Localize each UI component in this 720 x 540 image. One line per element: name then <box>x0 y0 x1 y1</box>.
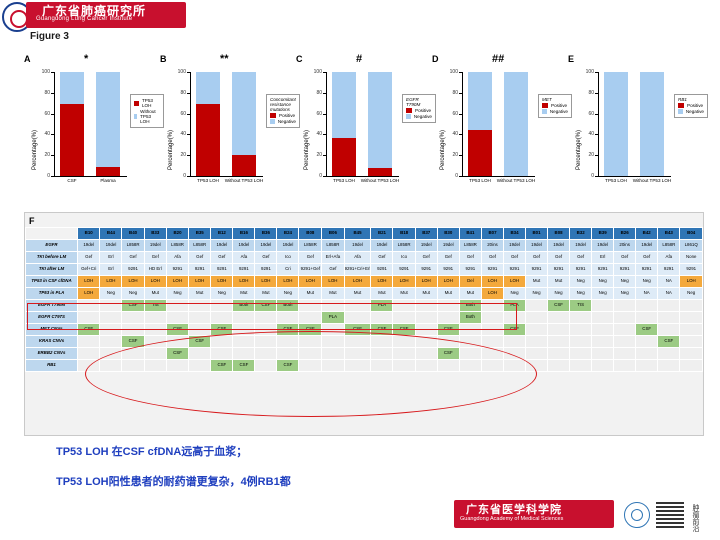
table-cell <box>78 300 100 312</box>
row-header: TKI before LM <box>26 252 78 264</box>
table-cell: Neg <box>100 288 122 300</box>
table-cell <box>658 348 680 360</box>
table-cell: Gef <box>437 252 459 264</box>
table-cell: 19del <box>211 240 233 252</box>
y-tick-label: 80 <box>309 90 322 96</box>
y-tick-mark <box>51 155 54 156</box>
row-header: RB1 <box>26 360 78 372</box>
legend-label: TP53 LOH <box>142 98 160 108</box>
y-tick-mark <box>459 155 462 156</box>
table-cell <box>437 336 459 348</box>
y-tick-label: 60 <box>173 111 186 117</box>
table-cell <box>78 336 100 348</box>
bar-segment <box>604 72 628 176</box>
column-header: B07 <box>481 228 503 240</box>
table-cell <box>592 360 614 372</box>
significance-marker: ** <box>220 53 229 65</box>
table-cell: 9291 <box>437 264 459 276</box>
table-cell: 9291 <box>166 264 188 276</box>
table-cell <box>299 360 322 372</box>
table-cell <box>322 336 344 348</box>
table-cell: 19del <box>415 240 437 252</box>
table-cell <box>393 312 415 324</box>
table-cell <box>592 324 614 336</box>
table-cell: CSF <box>658 336 680 348</box>
table-cell <box>592 300 614 312</box>
table-cell: Mut <box>393 288 415 300</box>
y-tick-mark <box>459 72 462 73</box>
table-cell: 9291 <box>415 264 437 276</box>
table-cell: LOH <box>371 276 393 288</box>
table-cell: 19del <box>592 240 614 252</box>
y-tick-mark <box>51 93 54 94</box>
table-cell <box>144 336 166 348</box>
table-cell: Gef <box>322 264 344 276</box>
bar-segment <box>60 72 84 104</box>
y-tick-label: 60 <box>309 111 322 117</box>
y-tick-label: 100 <box>445 69 458 75</box>
table-cell <box>393 336 415 348</box>
table-cell: Gef <box>526 252 548 264</box>
table-cell <box>570 324 592 336</box>
table-cell <box>100 324 122 336</box>
table-cell: 9291+Cri+Erl <box>344 264 371 276</box>
y-tick-mark <box>187 93 190 94</box>
significance-marker: * <box>84 53 88 65</box>
x-category-label: Without TP53 LOH <box>222 178 266 183</box>
legend-entry: TP53 LOH <box>134 98 160 108</box>
y-tick-mark <box>187 155 190 156</box>
table-cell: 9291 <box>504 264 526 276</box>
table-cell <box>189 360 211 372</box>
table-cell: Erl <box>100 252 122 264</box>
y-tick-mark <box>459 114 462 115</box>
table-cell: Neg <box>592 276 614 288</box>
table-cell: Neg <box>211 288 233 300</box>
table-cell <box>614 360 636 372</box>
table-cell: 9291 <box>122 264 144 276</box>
table-cell: Gef <box>459 252 481 264</box>
bar-segment <box>368 72 392 168</box>
table-cell <box>658 312 680 324</box>
table-cell <box>592 348 614 360</box>
table-row: EGFR19del19delL858R19delL858RL858R19del1… <box>26 240 703 252</box>
table-cell <box>233 348 255 360</box>
table-cell <box>658 324 680 336</box>
bar-segment <box>332 72 356 138</box>
table-cell <box>504 360 526 372</box>
table-cell: Erl <box>100 264 122 276</box>
table-cell <box>415 348 437 360</box>
table-cell: 19del <box>144 240 166 252</box>
table-cell: Neg <box>570 288 592 300</box>
column-header: B45 <box>344 228 371 240</box>
table-cell <box>437 300 459 312</box>
legend-label: Negative <box>278 119 296 124</box>
table-row: TKI after LMGef+CriErl9291HD Erl92919291… <box>26 264 703 276</box>
table-cell: LOH <box>393 276 415 288</box>
table-cell: Gef <box>299 252 322 264</box>
table-cell <box>189 312 211 324</box>
legend-entry: Without TP53 LOH <box>134 109 160 124</box>
footer-org-cn: 广东省医学科学院 <box>466 501 562 517</box>
legend-entry: Positive <box>270 113 296 118</box>
legend-title: RB1 <box>678 97 704 102</box>
table-cell: 9291 <box>614 264 636 276</box>
legend-label: Positive <box>415 108 431 113</box>
chart-panel-e: EPercentage(%)020406080100TP53 LOHWithou… <box>568 54 704 209</box>
table-cell: LOH <box>481 276 503 288</box>
table-cell <box>614 300 636 312</box>
y-tick-label: 80 <box>37 90 50 96</box>
legend-swatch <box>134 101 139 106</box>
table-cell <box>371 348 393 360</box>
table-cell: 9291 <box>371 264 393 276</box>
table-cell <box>233 312 255 324</box>
y-tick-mark <box>323 134 326 135</box>
table-cell <box>299 312 322 324</box>
table-cell <box>636 300 658 312</box>
column-header: B20 <box>166 228 188 240</box>
table-cell <box>255 348 277 360</box>
table-cell <box>481 312 503 324</box>
table-cell: CSF <box>122 336 144 348</box>
table-cell: Gef <box>415 252 437 264</box>
chart-panel-c: C#Percentage(%)020406080100TP53 LOHWitho… <box>296 54 432 209</box>
table-cell: LOH <box>299 276 322 288</box>
table-cell: Cri <box>277 264 299 276</box>
table-cell <box>211 312 233 324</box>
legend-label: Negative <box>686 109 704 114</box>
table-cell: Neg <box>614 288 636 300</box>
table-cell <box>614 336 636 348</box>
table-cell <box>100 312 122 324</box>
table-cell: 9291 <box>481 264 503 276</box>
x-category-label: Without TP53 LOH <box>358 178 402 183</box>
y-tick-label: 20 <box>173 152 186 158</box>
table-cell: Neg <box>166 288 188 300</box>
legend-entry: Negative <box>542 109 568 114</box>
column-header: B34 <box>504 228 526 240</box>
column-header: B43 <box>658 228 680 240</box>
table-cell <box>680 360 703 372</box>
table-cell: 19del <box>570 240 592 252</box>
table-cell <box>233 336 255 348</box>
table-cell: Neg <box>636 276 658 288</box>
y-tick-label: 20 <box>37 152 50 158</box>
table-cell: Mut <box>526 276 548 288</box>
table-cell <box>548 336 570 348</box>
table-cell: Mut <box>344 288 371 300</box>
table-cell <box>166 360 188 372</box>
table-cell <box>481 300 503 312</box>
y-tick-mark <box>187 176 190 177</box>
table-cell: LOH <box>189 276 211 288</box>
y-tick-mark <box>51 176 54 177</box>
y-tick-label: 40 <box>445 131 458 137</box>
table-row: RB1CSFCSFCSF <box>26 360 703 372</box>
y-tick-label: 100 <box>309 69 322 75</box>
table-row: TKI before LMGefErlGefGefAfaGefGefAfaGef… <box>26 252 703 264</box>
table-cell: Neg <box>680 288 703 300</box>
table-row: TP53 in PLALOHNegNegMutNegMutNegMutMutNe… <box>26 288 703 300</box>
y-tick-label: 100 <box>173 69 186 75</box>
table-cell: Neg <box>570 276 592 288</box>
table-cell <box>211 336 233 348</box>
y-tick-label: 0 <box>309 173 322 179</box>
y-tick-mark <box>595 72 598 73</box>
table-cell: CSF <box>78 324 100 336</box>
table-row: EGFR T790MCSFTISBothCSFBothPLABothPLACSF… <box>26 300 703 312</box>
column-header: B41 <box>459 228 481 240</box>
table-cell: Erl <box>592 252 614 264</box>
column-header: B18 <box>393 228 415 240</box>
table-cell: LOH <box>78 276 100 288</box>
table-cell: Gef <box>481 252 503 264</box>
legend-label: Positive <box>687 103 703 108</box>
table-cell: LOH <box>122 276 144 288</box>
table-cell: PLA <box>371 300 393 312</box>
y-tick-label: 20 <box>581 152 594 158</box>
footer-org-en: Guangdong Academy of Medical Sciences <box>460 516 563 522</box>
table-cell: 20ins <box>614 240 636 252</box>
table-cell: Gef <box>211 252 233 264</box>
y-tick-mark <box>187 114 190 115</box>
table-cell: Mut <box>144 288 166 300</box>
table-cell <box>570 348 592 360</box>
x-category-label: Without TP53 LOH <box>630 178 674 183</box>
column-header: B08 <box>299 228 322 240</box>
caption-line-2: TP53 LOH阳性患者的耐药谱更复杂，4例RB1都 <box>56 474 291 491</box>
column-header: B21 <box>371 228 393 240</box>
column-header: B37 <box>415 228 437 240</box>
legend-swatch <box>406 108 412 113</box>
y-tick-mark <box>595 93 598 94</box>
table-cell <box>122 312 144 324</box>
table-cell: L858R <box>322 240 344 252</box>
table-cell: NA <box>636 288 658 300</box>
table-cell: Afa <box>658 252 680 264</box>
table-cell <box>144 312 166 324</box>
table-cell: 19del <box>255 240 277 252</box>
table-cell: None <box>680 252 703 264</box>
table-cell: LOH <box>100 276 122 288</box>
y-tick-mark <box>323 93 326 94</box>
y-tick-mark <box>459 134 462 135</box>
table-cell: NA <box>658 276 680 288</box>
table-cell <box>233 324 255 336</box>
table-cell: 19del <box>277 240 299 252</box>
table-cell <box>189 300 211 312</box>
table-cell: Gef <box>614 252 636 264</box>
table-cell: CSF <box>437 348 459 360</box>
table-cell: CSF <box>344 324 371 336</box>
y-tick-mark <box>595 134 598 135</box>
institute-name-en: Guangdong Lung Cancer Institute <box>36 16 132 22</box>
y-tick-label: 40 <box>581 131 594 137</box>
table-cell <box>322 348 344 360</box>
column-header: B08 <box>548 228 570 240</box>
panel-letter: C <box>296 54 303 64</box>
table-cell: Neg <box>548 288 570 300</box>
y-tick-label: 0 <box>37 173 50 179</box>
y-tick-mark <box>323 176 326 177</box>
table-cell <box>166 336 188 348</box>
bar-segment <box>640 72 664 176</box>
table-cell <box>592 336 614 348</box>
table-cell <box>371 312 393 324</box>
legend-swatch <box>542 103 548 108</box>
table-cell: 9291 <box>233 264 255 276</box>
table-cell: 19del <box>636 240 658 252</box>
significance-marker: ## <box>492 53 504 65</box>
table-cell <box>371 336 393 348</box>
table-cell: Gef <box>636 252 658 264</box>
table-cell <box>393 300 415 312</box>
table-cell <box>415 312 437 324</box>
table-cell <box>548 324 570 336</box>
row-header: TKI after LM <box>26 264 78 276</box>
chart-legend: RB1PositiveNegative <box>674 94 708 118</box>
bar-segment <box>196 72 220 104</box>
legend-label: Without TP53 LOH <box>140 109 160 124</box>
table-cell <box>393 360 415 372</box>
table-cell <box>614 348 636 360</box>
table-cell: LOH <box>437 276 459 288</box>
table-cell <box>100 360 122 372</box>
table-cell: TIS <box>144 300 166 312</box>
legend-title: EGFR T790M <box>406 97 432 107</box>
table-cell <box>144 348 166 360</box>
table-cell <box>344 336 371 348</box>
table-cell: 9291 <box>211 264 233 276</box>
table-cell: Afa <box>233 252 255 264</box>
table-cell: L858R <box>299 240 322 252</box>
table-cell <box>78 348 100 360</box>
y-tick-mark <box>187 72 190 73</box>
table-cell: Afa <box>166 252 188 264</box>
table-cell <box>344 348 371 360</box>
table-cell: 9291 <box>255 264 277 276</box>
table-cell <box>189 348 211 360</box>
table-cell: 19del <box>344 240 371 252</box>
table-cell: CSF <box>211 360 233 372</box>
table-cell: Mut <box>299 288 322 300</box>
table-cell: Mut <box>322 288 344 300</box>
table-cell: 19del <box>371 240 393 252</box>
y-tick-label: 80 <box>173 90 186 96</box>
y-tick-mark <box>323 155 326 156</box>
table-cell <box>459 360 481 372</box>
table-cell: CSF <box>166 324 188 336</box>
table-cell <box>437 360 459 372</box>
table-cell: Gef <box>504 252 526 264</box>
panel-letter: D <box>432 54 439 64</box>
legend-swatch <box>678 103 684 108</box>
table-cell: 9291 <box>189 264 211 276</box>
table-row: KRAS CNVsCSFCSFCSF <box>26 336 703 348</box>
chart-panel-d: D##Percentage(%)020406080100TP53 LOHWith… <box>432 54 568 209</box>
x-category-label: Without TP53 LOH <box>494 178 538 183</box>
table-cell: CSF <box>393 324 415 336</box>
chart-legend: EGFR T790MPositiveNegative <box>402 94 436 123</box>
column-header: B42 <box>636 228 658 240</box>
table-cell <box>299 348 322 360</box>
table-cell: LOH <box>481 288 503 300</box>
table-grid: B10B44B40B33B20B35B12B16B36B24B08B06B45B… <box>25 227 703 372</box>
table-cell <box>680 324 703 336</box>
y-tick-label: 60 <box>581 111 594 117</box>
page-header: 广东省肺癌研究所 Guangdong Lung Cancer Institute <box>0 0 720 30</box>
table-cell: 9291 <box>636 264 658 276</box>
table-cell <box>526 324 548 336</box>
table-row: ERBB2 CNVsCSFCSF <box>26 348 703 360</box>
row-header: MET CNVs <box>26 324 78 336</box>
table-cell: HD Erl <box>144 264 166 276</box>
row-header: TP53 in PLA <box>26 288 78 300</box>
table-cell <box>548 360 570 372</box>
column-header: B06 <box>322 228 344 240</box>
table-cell <box>481 348 503 360</box>
table-cell <box>570 336 592 348</box>
table-cell <box>504 312 526 324</box>
table-cell <box>344 360 371 372</box>
y-tick-label: 0 <box>445 173 458 179</box>
y-tick-label: 40 <box>37 131 50 137</box>
y-tick-label: 0 <box>173 173 186 179</box>
table-cell <box>78 312 100 324</box>
table-cell: 20ins <box>481 240 503 252</box>
table-cell: PLA <box>322 312 344 324</box>
y-tick-label: 40 <box>309 131 322 137</box>
table-cell: Neg <box>122 288 144 300</box>
table-cell <box>255 324 277 336</box>
table-cell <box>277 348 299 360</box>
table-cell: Neg <box>526 288 548 300</box>
table-cell: L858R <box>166 240 188 252</box>
row-header: EGFR T790M <box>26 300 78 312</box>
column-header: B36 <box>255 228 277 240</box>
table-cell <box>415 300 437 312</box>
bar-segment <box>368 168 392 176</box>
y-tick-mark <box>459 93 462 94</box>
table-cell: LOH <box>680 276 703 288</box>
table-cell <box>322 360 344 372</box>
table-cell <box>299 336 322 348</box>
table-cell: Erl+Afa <box>322 252 344 264</box>
table-cell: 9291 <box>459 264 481 276</box>
legend-entry: Negative <box>270 119 296 124</box>
table-cell <box>211 300 233 312</box>
table-cell: CSF <box>504 324 526 336</box>
panel-letter: A <box>24 54 31 64</box>
legend-swatch <box>406 114 411 119</box>
bar-segment <box>504 72 528 176</box>
table-cell: L861Q <box>680 240 703 252</box>
table-cell: CSF <box>299 324 322 336</box>
y-tick-label: 60 <box>37 111 50 117</box>
table-cell: LOH <box>78 288 100 300</box>
table-cell: Both <box>459 312 481 324</box>
table-cell: 9291 <box>393 264 415 276</box>
table-cell <box>166 300 188 312</box>
chart-legend: METPositiveNegative <box>538 94 572 118</box>
column-header: B04 <box>680 228 703 240</box>
y-tick-mark <box>323 114 326 115</box>
y-tick-label: 100 <box>37 69 50 75</box>
legend-swatch <box>678 109 683 114</box>
table-cell: Both <box>233 300 255 312</box>
